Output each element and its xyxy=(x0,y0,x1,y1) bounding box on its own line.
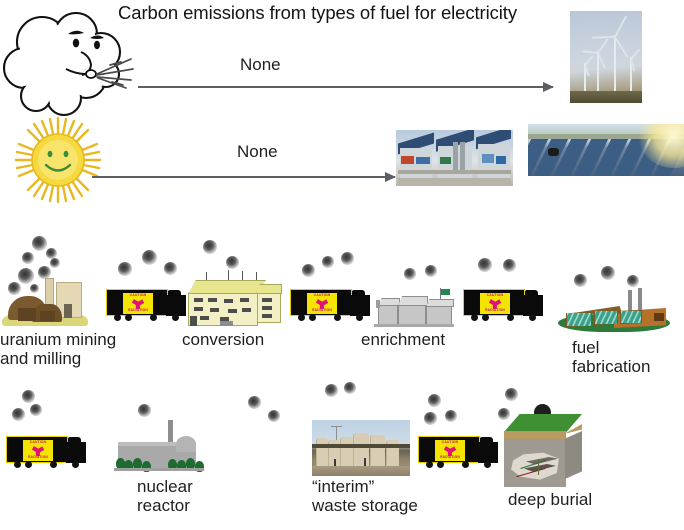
radiation-warning-sign: CAUTION RADIATION xyxy=(307,293,337,314)
wind-emission-label: None xyxy=(240,55,281,75)
cloud-blowing-wind-icon xyxy=(2,12,134,124)
radiation-trefoil-icon xyxy=(32,445,44,456)
radiation-trefoil-icon xyxy=(316,298,328,309)
enrichment-plant-icon xyxy=(374,288,464,328)
fuel-fabrication-plant-icon xyxy=(556,286,674,334)
solar-arrow-right-icon xyxy=(92,172,395,182)
figure-title: Carbon emissions from types of fuel for … xyxy=(118,2,517,24)
uranium-mine-mill-icon xyxy=(2,278,92,326)
radiation-trefoil-icon xyxy=(444,445,456,456)
smiling-sun-icon xyxy=(12,116,104,204)
wind-turbines-photo xyxy=(570,11,642,103)
stage-label-conversion: conversion xyxy=(182,330,264,349)
stage-label-enrichment: enrichment xyxy=(361,330,445,349)
stage-label-reactor: nuclear reactor xyxy=(137,477,193,515)
stage-label-fabrication: fuel fabrication xyxy=(572,338,650,376)
radiation-trefoil-icon xyxy=(489,298,501,309)
figure-canvas: Carbon emissions from types of fuel for … xyxy=(0,0,684,530)
rooftop-solar-panels-photo xyxy=(396,130,513,186)
solar-farm-photo xyxy=(528,124,684,176)
solar-emission-label: None xyxy=(237,142,278,162)
radiation-trefoil-icon xyxy=(132,298,144,309)
radiation-warning-sign: CAUTION RADIATION xyxy=(435,440,465,461)
wind-arrow-right-icon xyxy=(138,82,553,92)
radiation-text: RADIATION xyxy=(312,309,332,313)
nuclear-reactor-icon xyxy=(112,420,222,472)
deep-geologic-repository-icon xyxy=(496,404,588,490)
conversion-plant-icon xyxy=(184,272,294,328)
stage-label-mining: uranium mining and milling xyxy=(0,330,116,368)
stage-label-burial: deep burial xyxy=(508,490,592,509)
radiation-text: RADIATION xyxy=(128,309,148,313)
radiation-warning-sign: CAUTION RADIATION xyxy=(480,293,510,314)
radiation-text: RADIATION xyxy=(28,456,48,460)
stage-label-storage: “interim” waste storage xyxy=(312,477,418,515)
radiation-warning-sign: CAUTION RADIATION xyxy=(123,293,153,314)
radiation-text: RADIATION xyxy=(485,309,505,313)
radiation-warning-sign: CAUTION RADIATION xyxy=(23,440,53,461)
dry-cask-storage-photo xyxy=(312,420,410,476)
radiation-text: RADIATION xyxy=(440,456,460,460)
